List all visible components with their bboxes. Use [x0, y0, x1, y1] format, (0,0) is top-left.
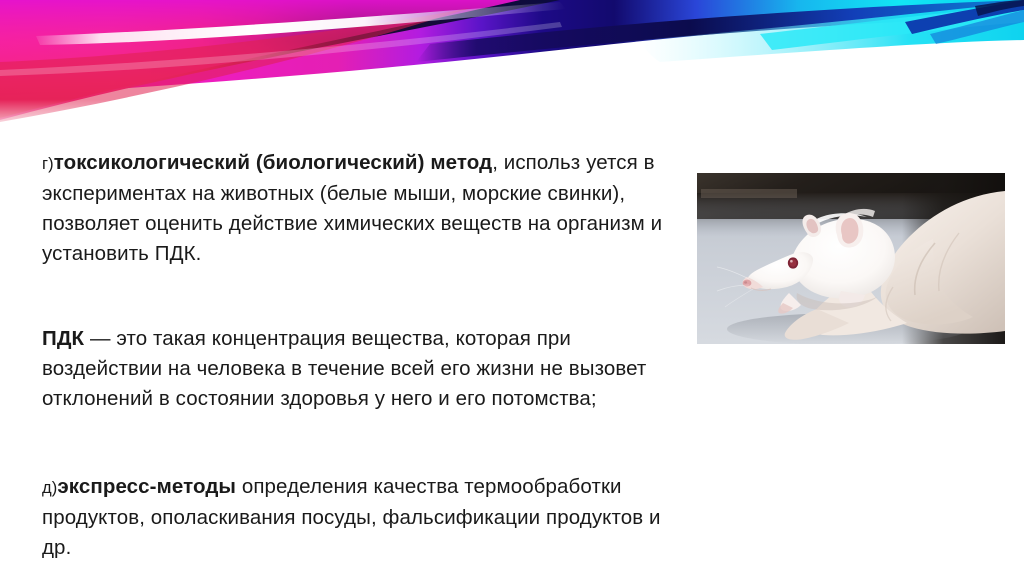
text-column: г)токсикологический (биологический) мето… — [42, 140, 690, 563]
paragraph-lead-toxicological: токсикологический (биологический) метод — [54, 151, 492, 174]
decorative-swoosh-banner — [0, 0, 1024, 132]
slide-content: г)токсикологический (биологический) мето… — [0, 132, 1024, 576]
paragraph-toxicological-method: г)токсикологический (биологический) мето… — [42, 148, 690, 269]
paragraph-body-pdk: — это такая концентрация вещества, котор… — [42, 327, 646, 410]
paragraph-marker-d: д) — [42, 479, 57, 497]
lab-mouse-photo — [697, 173, 1005, 344]
paragraph-lead-express: экспресс-методы — [57, 475, 236, 498]
paragraph-marker-g: г) — [42, 155, 54, 173]
paragraph-express-methods: д)экспресс-методы определения качества т… — [42, 472, 690, 563]
paragraph-pdk-definition: ПДК — это такая концентрация вещества, к… — [42, 324, 690, 414]
paragraph-lead-pdk: ПДК — [42, 327, 84, 350]
slide: г)токсикологический (биологический) мето… — [0, 0, 1024, 576]
